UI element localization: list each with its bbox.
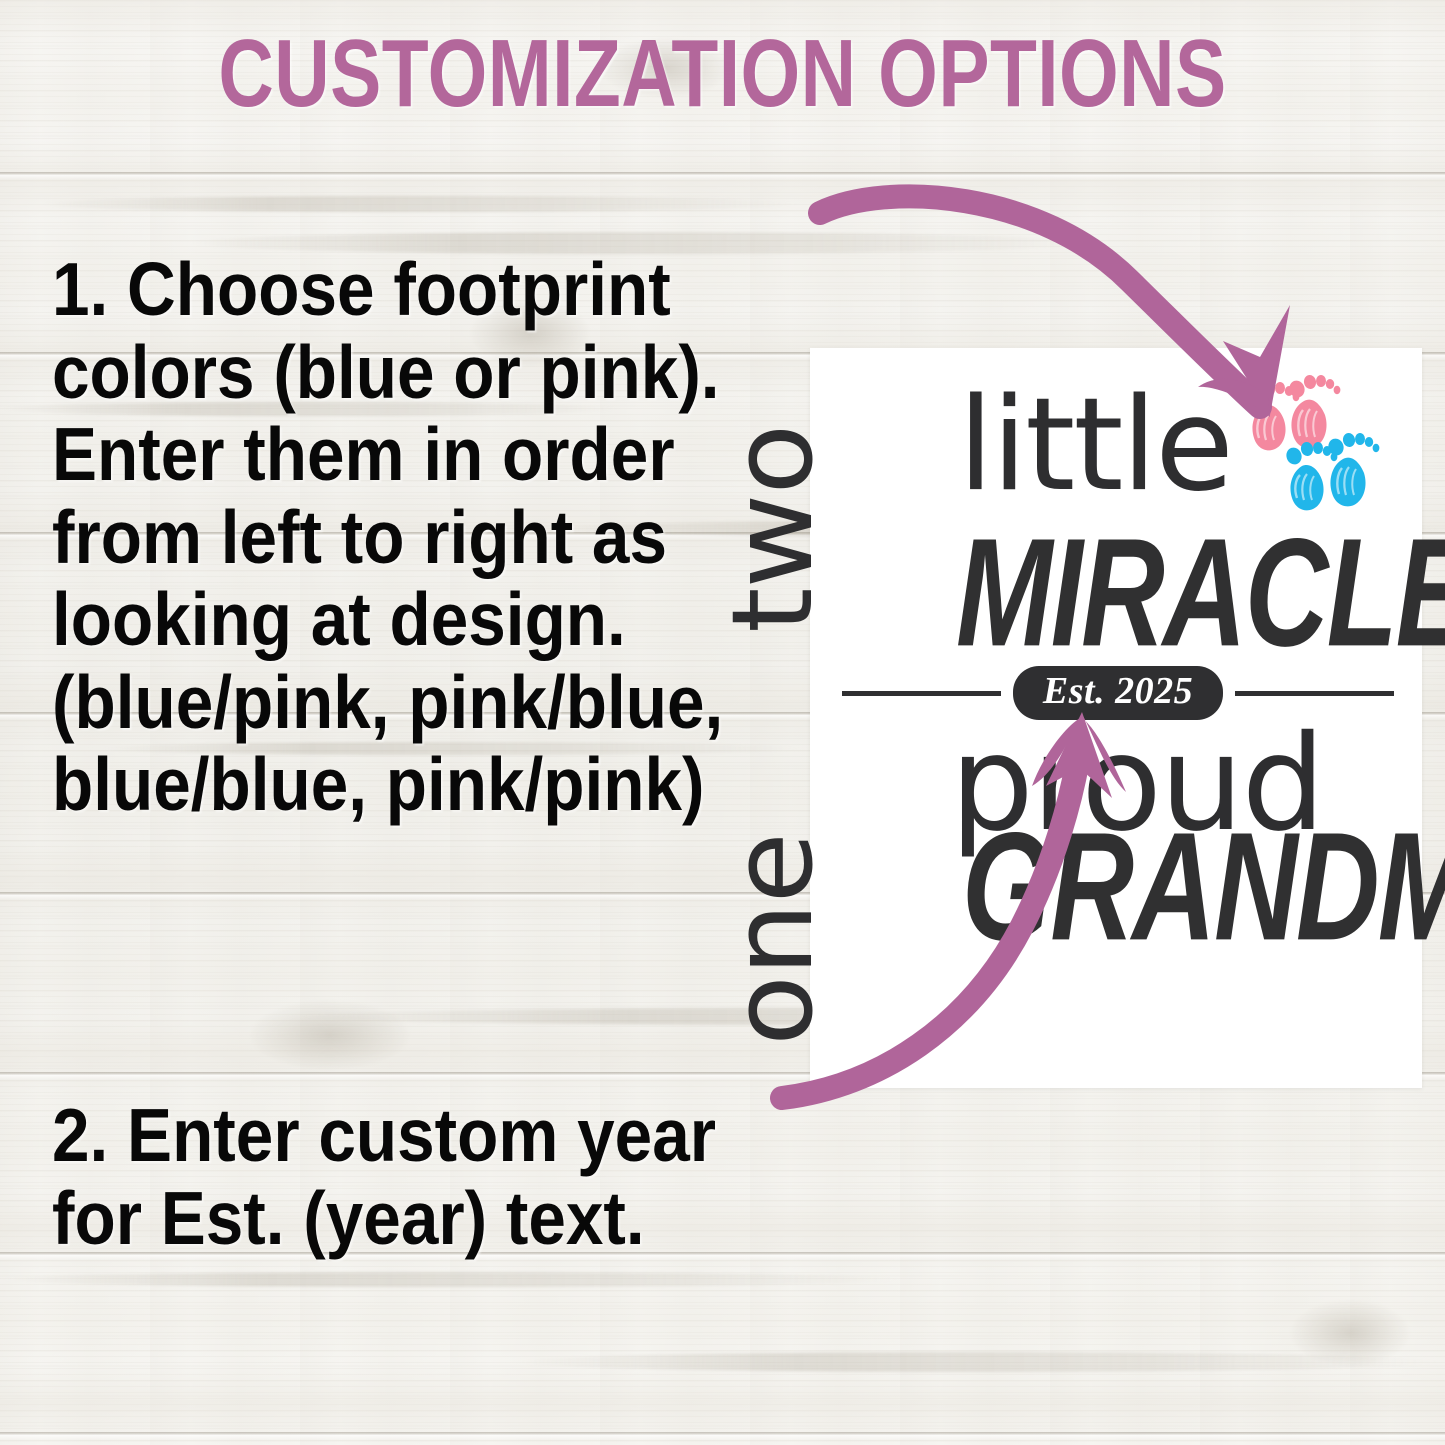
instruction-line: 1. Choose footprint bbox=[52, 248, 736, 331]
wood-grain-streak bbox=[40, 196, 800, 212]
divider-rule-right bbox=[1235, 691, 1394, 696]
design-word-miracles: MIRACLES bbox=[956, 516, 1445, 670]
instruction-line: from left to right as bbox=[52, 496, 736, 579]
design-word-two: two bbox=[708, 425, 838, 633]
instruction-line: 2. Enter custom year bbox=[52, 1094, 736, 1177]
page-title: CUSTOMIZATION OPTIONS bbox=[145, 26, 1301, 122]
baby-footprints-pink-icon bbox=[1246, 374, 1340, 450]
design-preview-card: two little MIRACLES Est. 2025 one proud … bbox=[810, 348, 1422, 1088]
divider-rule-left bbox=[842, 691, 1001, 696]
instruction-line: for Est. (year) text. bbox=[52, 1177, 736, 1260]
wood-grain-streak bbox=[520, 1352, 1440, 1372]
instruction-line: colors (blue or pink). bbox=[52, 331, 736, 414]
design-word-little: little bbox=[958, 382, 1232, 510]
design-word-grandma: GRANDMA bbox=[962, 810, 1445, 964]
poster-canvas: CUSTOMIZATION OPTIONS 1. Choose footprin… bbox=[0, 0, 1445, 1445]
instruction-1: 1. Choose footprint colors (blue or pink… bbox=[52, 248, 736, 826]
wood-knot bbox=[1290, 1300, 1410, 1366]
wood-grain-streak bbox=[0, 1272, 900, 1287]
instruction-line: blue/blue, pink/pink) bbox=[52, 743, 736, 826]
instruction-line: (blue/pink, pink/blue, bbox=[52, 661, 736, 744]
instruction-2: 2. Enter custom year for Est. (year) tex… bbox=[52, 1094, 736, 1259]
design-word-one: one bbox=[708, 833, 838, 1046]
instruction-line: Enter them in order bbox=[52, 413, 736, 496]
wood-knot bbox=[250, 1000, 410, 1070]
instruction-line: looking at design. bbox=[52, 578, 736, 661]
baby-footprints-group bbox=[1242, 368, 1402, 518]
